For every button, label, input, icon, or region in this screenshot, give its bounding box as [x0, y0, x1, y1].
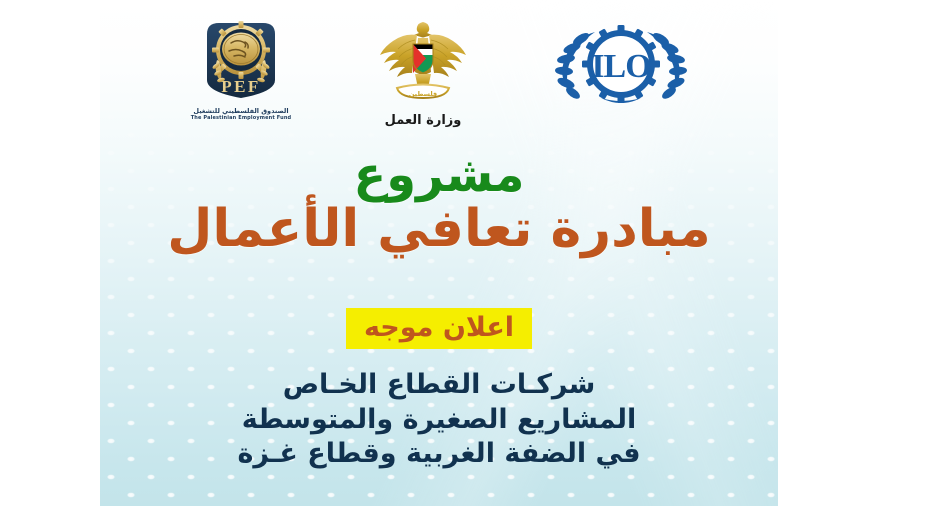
project-label: مشروع — [100, 150, 778, 202]
eagle-of-saladin-icon: فلسطين — [375, 18, 471, 110]
logo-row: PEF الصندوق الفلسطيني للتشغيل The Palest… — [100, 18, 778, 144]
pef-caption-english: The Palestinian Employment Fund — [191, 115, 292, 121]
audience-paragraph: شركـات القطاع الخـاص المشاريع الصغيرة وا… — [100, 368, 778, 472]
svg-text:PEF: PEF — [221, 77, 261, 96]
svg-text:فلسطين: فلسطين — [409, 90, 437, 98]
pef-emblem-icon: PEF — [193, 18, 289, 106]
announcement-badge: اعلان موجه — [346, 308, 532, 349]
badge-row: اعلان موجه — [100, 308, 778, 349]
project-title: مبادرة تعافي الأعمال — [100, 200, 778, 258]
svg-text:ILO: ILO — [591, 48, 650, 85]
ilo-emblem-icon: ILO — [551, 18, 691, 114]
audience-line-3: في الضفة الغربية وقطاع غـزة — [100, 437, 778, 472]
poster-root: PEF الصندوق الفلسطيني للتشغيل The Palest… — [0, 0, 940, 529]
audience-line-2: المشاريع الصغيرة والمتوسطة — [100, 403, 778, 438]
logo-ministry-of-labour: فلسطين وزارة العمل — [364, 18, 482, 128]
logo-pef: PEF الصندوق الفلسطيني للتشغيل The Palest… — [182, 18, 300, 121]
ministry-caption: وزارة العمل — [385, 113, 462, 128]
headline-block: مشروع مبادرة تعافي الأعمال — [100, 150, 778, 258]
logo-ilo: ILO — [546, 18, 696, 114]
pef-caption-arabic: الصندوق الفلسطيني للتشغيل — [193, 108, 288, 115]
audience-line-1: شركـات القطاع الخـاص — [100, 368, 778, 403]
